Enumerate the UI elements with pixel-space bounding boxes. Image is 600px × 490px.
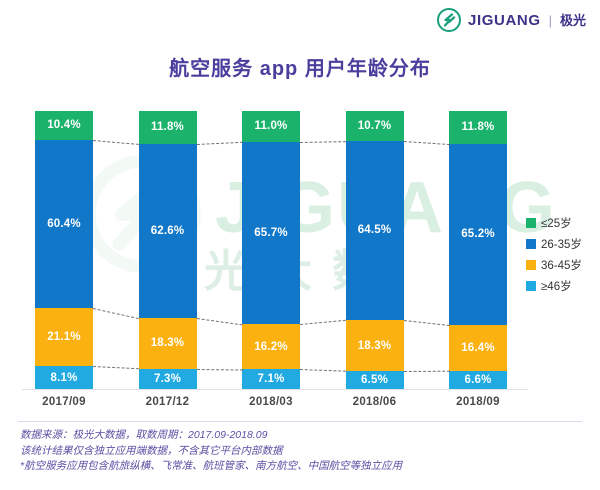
footer-line-3: *航空服务应用包含航旅纵横、飞常准、航班管家、南方航空、中国航空等独立应用 [20, 459, 590, 475]
segment-connector-line [197, 142, 243, 145]
legend-swatch-icon [526, 281, 536, 291]
legend-item-2[interactable]: 36-45岁 [526, 254, 600, 275]
footer-notes: 数据来源：极光大数据，取数周期：2017.09-2018.09 该统计结果仅含独… [20, 428, 590, 475]
segment-value-label: 7.3% [154, 373, 181, 385]
segment-value-label: 65.2% [461, 228, 495, 240]
segment-connector-line [93, 366, 139, 369]
segment-connector-line [403, 320, 449, 326]
segment-value-label: 8.1% [50, 372, 77, 384]
segment-value-label: 6.5% [361, 374, 388, 386]
segment-value-label: 21.1% [47, 331, 81, 343]
brand-separator: | [549, 14, 552, 27]
segment-value-label: 7.1% [257, 373, 284, 385]
segment-connector-line [300, 320, 346, 325]
brand-name-cn: 极光 [560, 14, 586, 27]
segment-value-label: 11.0% [255, 120, 288, 132]
bar-segment: 10.7% [346, 111, 404, 141]
segment-connector-line [196, 369, 242, 371]
segment-value-label: 6.6% [464, 374, 491, 386]
segment-value-label: 60.4% [47, 218, 81, 230]
bar-segment: 60.4% [35, 140, 93, 308]
legend-label: ≥46岁 [541, 278, 572, 294]
segment-value-label: 65.7% [254, 227, 288, 239]
segment-connector-line [93, 308, 139, 319]
segment-value-label: 62.6% [151, 225, 185, 237]
bar-2017-09: 10.4%60.4%21.1%8.1% [35, 111, 93, 389]
bar-segment: 64.5% [346, 141, 404, 320]
segment-value-label: 18.3% [151, 337, 185, 349]
bar-segment: 16.4% [449, 325, 507, 371]
legend-label: 26-35岁 [541, 236, 582, 252]
legend-swatch-icon [526, 218, 536, 228]
bar-segment: 7.1% [242, 369, 300, 389]
bar-2018-06: 10.7%64.5%18.3%6.5% [346, 111, 404, 389]
chart-page: JIGUANG | 极光 航空服务 app 用户年龄分布 JIGUANG 极光大… [0, 0, 600, 490]
legend-label: ≤25岁 [541, 215, 572, 231]
bar-segment: 11.8% [139, 111, 197, 144]
x-axis-label: 2017/09 [35, 396, 93, 408]
segment-value-label: 11.8% [151, 121, 184, 133]
bar-segment: 10.4% [35, 111, 93, 140]
x-axis-label: 2018/03 [242, 396, 300, 408]
bar-segment: 11.8% [449, 111, 507, 144]
legend-label: 36-45岁 [541, 257, 582, 273]
legend-item-1[interactable]: 26-35岁 [526, 233, 600, 254]
footer-divider [18, 421, 582, 422]
footer-line-1: 数据来源：极光大数据，取数周期：2017.09-2018.09 [20, 428, 590, 444]
segment-value-label: 10.4% [47, 119, 81, 131]
legend-item-0[interactable]: ≤25岁 [526, 212, 600, 233]
legend-swatch-icon [526, 260, 536, 270]
bar-segment: 18.3% [346, 320, 404, 371]
segment-value-label: 16.2% [254, 341, 288, 353]
bar-segment: 16.2% [242, 324, 300, 369]
bar-segment: 62.6% [139, 144, 197, 318]
bar-2018-03: 11.0%65.7%16.2%7.1% [242, 111, 300, 389]
bar-segment: 65.2% [449, 144, 507, 325]
bar-segment: 11.0% [242, 111, 300, 142]
bar-2017-12: 11.8%62.6%18.3%7.3% [139, 111, 197, 389]
bar-segment: 18.3% [139, 318, 197, 369]
segment-connector-line [404, 371, 450, 372]
legend: ≤25岁26-35岁36-45岁≥46岁 [526, 212, 600, 296]
segment-value-label: 10.7% [358, 120, 392, 132]
bar-segment: 8.1% [35, 366, 93, 389]
legend-swatch-icon [526, 239, 536, 249]
bar-segment: 21.1% [35, 308, 93, 367]
segment-connector-line [196, 318, 242, 325]
bar-segment: 65.7% [242, 142, 300, 325]
segment-value-label: 64.5% [358, 224, 392, 236]
segment-connector-line [300, 369, 346, 372]
bar-segment: 7.3% [139, 369, 197, 389]
bar-2018-09: 11.8%65.2%16.4%6.6% [449, 111, 507, 389]
plot-area: 10.4%60.4%21.1%8.1%11.8%62.6%18.3%7.3%11… [0, 100, 600, 395]
segment-connector-line [300, 141, 346, 143]
x-axis-label: 2018/09 [449, 396, 507, 408]
chart-title: 航空服务 app 用户年龄分布 [0, 52, 600, 81]
x-axis-label: 2018/06 [346, 396, 404, 408]
bar-segment: 6.6% [449, 371, 507, 389]
brand-name: JIGUANG [468, 13, 541, 28]
segment-value-label: 18.3% [358, 340, 392, 352]
footer-line-2: 该统计结果仅含独立应用端数据，不含其它平台内部数据 [20, 444, 590, 460]
segment-connector-line [403, 141, 449, 145]
segment-value-label: 11.8% [462, 121, 495, 133]
bar-segment: 6.5% [346, 371, 404, 389]
brand-header: JIGUANG | 极光 [437, 8, 586, 32]
segment-connector-line [93, 140, 139, 145]
x-axis-label: 2017/12 [139, 396, 197, 408]
x-axis-line [22, 389, 528, 390]
legend-item-3[interactable]: ≥46岁 [526, 275, 600, 296]
jiguang-logo-icon [437, 8, 461, 32]
segment-value-label: 16.4% [461, 342, 495, 354]
